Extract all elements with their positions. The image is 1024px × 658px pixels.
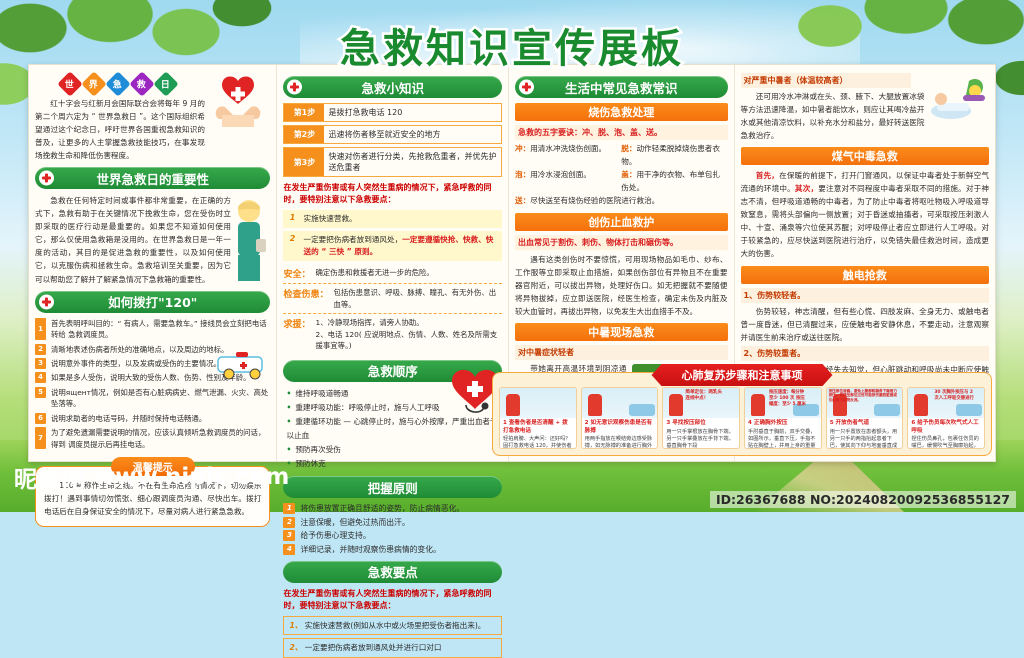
point-main: 实施快速营救。 <box>303 214 356 223</box>
list-item: 预防再次受伤 <box>286 443 502 457</box>
cpr-card-desc: 用一只手置放在患者额头，用另一只手的两指抬起患者下巴，使其向下仰与地面垂直成直角… <box>830 429 900 449</box>
watermark: 昵图网 www.nipic.com <box>14 460 289 494</box>
section-key-label: 急救要点 <box>368 562 418 581</box>
section-principle-label: 把握原则 <box>368 478 418 497</box>
shock-text-1: 伤势较轻，神志清醒，但有些心慌、四肢发麻、全身无力、或触电者曾一度昏迷，但已清醒… <box>741 305 989 344</box>
cpr-card-title: 3 寻找按压部位 <box>666 420 736 428</box>
row-value: 包括伤患意识、呼吸、脉搏、瞳孔、有无外伤、出血等。 <box>334 287 503 310</box>
gas-text-first: 首先， <box>756 171 779 180</box>
red-cross-icon <box>287 80 302 95</box>
section-common-header: 生活中常见急救常识 <box>515 76 728 98</box>
section-basics-header: 急救小知识 <box>283 76 502 98</box>
item-text: 一定要把伤病者放到通风处并进行口对口 <box>305 643 442 652</box>
list-item: 重建循环功能 — 心跳停止时，施与心外按摩，严重出血者予以止血 <box>286 415 502 443</box>
section-common-label: 生活中常见急救常识 <box>565 78 678 97</box>
item-text: 注意保暖，但避免过热而出汗。 <box>300 517 502 529</box>
item-number: 3 <box>283 530 295 541</box>
cpr-card-body: 1 查看伤者是否清醒 + 拨打急救电话 轻拍肩膀、大声问：还好吗？ 固打急救电话… <box>500 418 576 449</box>
poster-title-wrap: 急救知识宣传展板 <box>0 16 1024 74</box>
list-item: 预防休克 <box>286 457 502 471</box>
cpr-card-desc: 手肘垂直于胸前，双手交叠，如图所示，垂直下压，手指不贴在胸壁上，并用上身的重量进… <box>748 429 818 449</box>
item-text: 实施快速营救(例如从水中或火场里把受伤者拖出来)。 <box>305 621 486 630</box>
heart-in-hands-icon <box>206 71 270 135</box>
watermark-url: www.nipic.com <box>94 464 289 490</box>
item-key: 盖： <box>621 170 636 179</box>
cpr-callout: 简单定位：两乳头连线中点！ <box>685 390 723 402</box>
cpr-card-title: 1 查看伤者是否清醒 + 拨打急救电话 <box>503 420 573 435</box>
col1-importance-text: 急救在任何特定时间或事件都非常重要，在正确的方式下，急救有助于在关键情况下挽救生… <box>35 194 231 285</box>
cpr-card-title: 5 开放伤者气道 <box>830 420 900 428</box>
list-item: 5说明ящент情况，例如是否有心脏病病史、燃气泄漏、火灾、高处坠落等。 <box>35 387 270 410</box>
step-text: 说明ящент情况，例如是否有心脏病病史、燃气泄漏、火灾、高处坠落等。 <box>51 387 270 410</box>
gas-text: 首先，在保暖的前提下，打开门窗通风，以保证中毒者处于新鲜空气流通的环境中。其次，… <box>741 169 989 260</box>
list-item: 3给予伤患心理支持。 <box>283 530 502 542</box>
section-basics-label: 急救小知识 <box>361 78 424 97</box>
col2-key-alert: 在发生严重伤害或有人突然生重病的情况下，紧急呼救的同时，要特别注意以下急救要点： <box>283 588 502 612</box>
cpr-illustration: 简单定位：两乳头连线中点！ <box>663 388 739 418</box>
heat-subhead: 对中暑症状轻者 <box>515 345 728 360</box>
step-badge: 第3步 <box>284 148 324 176</box>
cpr-card: 30 次胸外按压与 2 次人工呼吸交替进行 6 给予伤员每次吹气式人工呼吸 捏住… <box>907 387 985 449</box>
item-key: 脱： <box>621 144 636 153</box>
diamond-3: 急 <box>105 71 130 96</box>
column-one: 世 界 急 救 日 红十字会与红新月会国际联合会将每年 9 月的第二个周六定为 … <box>29 65 276 461</box>
first-aid-scene-icon <box>929 73 991 125</box>
burn-header: 烧伤急救处理 <box>515 103 728 121</box>
item-key: 冲： <box>515 144 530 153</box>
item-value: 用冷水浸泡创面。 <box>530 170 591 179</box>
section-principle-header: 把握原则 <box>283 476 502 498</box>
column-two: 急救小知识 第1步是拨打急救电话 120 第2步迅速将伤者移至就近安全的地方 第… <box>276 65 508 461</box>
item-text: 将伤患放置正确且舒适的姿势，防止病情恶化。 <box>300 503 502 515</box>
cpr-card-body: 2 如无意识观察伤患是否有脉搏 用两手指放在喉结旁边感受脉搏，如无脉搏的准备进行… <box>582 418 658 449</box>
diamond-5: 日 <box>153 71 178 96</box>
step-number: 6 <box>35 413 46 424</box>
point-number: 1 <box>287 213 297 222</box>
diamond-4-label: 救 <box>137 77 146 90</box>
row-value: 1、冷静现场指挥，请旁人协助。 2、电话 120( 应说明地点、伤情、人数、姓名… <box>316 317 503 351</box>
cpr-card: 简单定位：两乳头连线中点！ 3 寻找按压部位 用一只手掌根放在胸骨下端，另一只手… <box>662 387 740 449</box>
cpr-card-desc: 用一只手掌根放在胸骨下端，另一只手掌叠放在手背下端，垂直胸骨下段 <box>666 429 736 449</box>
cpr-card-title: 2 如无意识观察伤患是否有脉搏 <box>585 420 655 435</box>
cpr-illustration: 按压速度：每分钟至少 100 次 按压幅度：至少 5 厘米 <box>745 388 821 418</box>
row-label: 求援： <box>283 317 310 351</box>
ambulance-icon <box>212 347 274 381</box>
gas-header: 煤气中毒急救 <box>741 147 989 165</box>
cpr-card: 1 查看伤者是否清醒 + 拨打急救电话 轻拍肩膀、大声问：还好吗？ 固打急救电话… <box>499 387 577 449</box>
table-row: 第2步迅速将伤者移至就近安全的地方 <box>283 125 502 144</box>
step-number: 7 <box>35 427 46 449</box>
diamond-5-label: 日 <box>161 77 170 90</box>
red-cross-icon <box>39 294 54 309</box>
cpr-panel: 心肺复苏步骤和注意事项 1 查看伤者是否清醒 + 拨打急救电话 轻拍肩膀、大声问… <box>492 372 992 456</box>
section-key-header: 急救要点 <box>283 561 502 583</box>
shock-sub-2: 2、伤势较重者。 <box>741 346 989 361</box>
burn-key-text: 急救的五字要诀：冲、脱、泡、盖、送。 <box>515 125 728 140</box>
point-text: 一定要把伤病者放到通风处，一定要遵循快抢、快救、快送的 “ 三快 ” 原则。 <box>303 234 498 258</box>
step-text: 快速对伤者进行分类，先抢救危重者，并优先护送危重者 <box>324 148 501 176</box>
step-text: 说明求助者的电话号码，并随时保持电话畅通。 <box>51 413 270 424</box>
list-item: 2 一定要把伤病者放到通风处，一定要遵循快抢、快救、快送的 “ 三快 ” 原则。 <box>283 231 502 261</box>
cpr-callout: 30 次胸外按压与 2 次人工呼吸交替进行 <box>934 390 974 402</box>
cpr-card-body: 4 正确胸外按压 手肘垂直于胸前，双手交叠，如图所示，垂直下压，手指不贴在胸壁上… <box>745 418 821 449</box>
list-item: 1、 实施快速营救(例如从水中或火场里把受伤者拖出来)。 <box>283 616 502 635</box>
list-item: 6说明求助者的电话号码，并随时保持电话畅通。 <box>35 413 270 424</box>
list-item: 脱：动作轻柔脱掉烧伤患者衣物。 <box>621 143 727 169</box>
cpr-card: 按压部位准确，避免上腹部和胸骨下端用力按压。若按压部位过低可能损伤腹腔脏器或引起… <box>826 387 904 449</box>
diamond-2: 界 <box>81 71 106 96</box>
wound-header: 创伤止血救护 <box>515 213 728 231</box>
step-number: 4 <box>35 372 46 383</box>
item-number: 2、 <box>289 643 302 652</box>
shock-header: 触电抢救 <box>741 266 989 284</box>
wound-key-text: 出血常见于割伤、刺伤、物体打击和碾伤等。 <box>515 235 728 250</box>
item-value: 动作轻柔脱掉烧伤患者衣物。 <box>621 144 720 166</box>
step-text: 为了避免遗漏需要说明的情况，应该认真倾听急救调度员的问话，得到 调度员提示后再挂… <box>51 427 270 450</box>
list-item: 冲：用清水冲洗烧伤创面。 <box>515 143 621 169</box>
row-label: 检查伤患： <box>283 287 328 310</box>
heat-header: 中暑现场急救 <box>515 323 728 341</box>
point-text: 实施快速营救。 <box>303 213 498 225</box>
item-key: 送： <box>515 196 530 205</box>
list-item: 7为了避免遗漏需要说明的情况，应该认真倾听急救调度员的问话，得到 调度员提示后再… <box>35 427 270 450</box>
severe-heat-text: 还可用冷水冲淋或在头、颈、腋下、大腿放置冰袋等方法迅速降温，如中暑者能饮水，则应… <box>741 90 925 142</box>
red-cross-icon <box>39 171 54 186</box>
wound-text: 遇有这类创伤时不要惊慌，可用现场物品如毛巾、纱布、工作服等立即采取止血措施，如果… <box>515 253 728 318</box>
watermark-brand: 昵图网 <box>14 460 86 494</box>
section-order-label: 急救顺序 <box>368 361 418 380</box>
section-call-header: 如何拨打"120" <box>35 291 270 313</box>
step-text: 首先表明呼叫目的：“ 有病人，需要急救车。” 接线员会立刻把电话转给 急救调度员… <box>51 318 270 341</box>
nurse-illustration-icon <box>226 197 272 283</box>
item-key: 泡： <box>515 170 530 179</box>
step-badge: 第2步 <box>284 126 324 143</box>
step-text: 迅速将伤者移至就近安全的地方 <box>324 126 501 143</box>
section-importance-header: 世界急救日的重要性 <box>35 167 270 189</box>
diamond-3-label: 急 <box>113 77 122 90</box>
step-text: 是拨打急救电话 120 <box>324 104 501 121</box>
burn-items: 冲：用清水冲洗烧伤创面。 脱：动作轻柔脱掉烧伤患者衣物。 泡：用冷水浸泡创面。 … <box>515 143 728 208</box>
step-badge: 第1步 <box>284 104 324 121</box>
cpr-title: 心肺复苏步骤和注意事项 <box>652 364 833 386</box>
col1-intro-text: 红十字会与红新月会国际联合会将每年 9 月的第二个周六定为 “ 世界急救日 ”。… <box>35 97 205 162</box>
cpr-callout: 按压速度：每分钟至少 100 次 按压幅度：至少 5 厘米 <box>769 390 807 408</box>
cpr-illustration: 30 次胸外按压与 2 次人工呼吸交替进行 <box>908 388 984 418</box>
list-item: 盖：用干净的衣物、布单包扎伤处。 <box>621 169 727 195</box>
image-id-text: ID:26367688 NO:20240820092536855127 <box>710 491 1016 508</box>
cpr-illustration <box>582 388 658 418</box>
point-number: 2 <box>287 234 297 243</box>
table-row: 第3步快速对伤者进行分类，先抢救危重者，并优先护送危重者 <box>283 147 502 177</box>
cpr-illustration <box>500 388 576 418</box>
step-number: 3 <box>35 358 46 369</box>
col2-alert-text: 在发生严重伤害或有人突然生重病的情况下，紧急呼救的同时，要特别注意以下急救要点： <box>283 182 502 206</box>
list-item: 2注意保暖，但避免过热而出汗。 <box>283 517 502 529</box>
list-item: 送：尽快送至有烧伤经验的医院进行救治。 <box>515 195 728 208</box>
point-main: 一定要把伤病者放到通风处， <box>303 235 402 244</box>
cpr-callout: 按压部位准确，避免上腹部和胸骨下端用力按压。若按压部位过低可能损伤腹腔脏器或引起… <box>829 389 899 402</box>
cpr-card-desc: 捏住伤员鼻孔，包裹住伤员的嘴巴，缓慢吹气至胸廓抬起，松开鼻孔使气体排出，平均每分… <box>911 436 981 449</box>
gas-text-body2: 要注意对不同程度中毒者采取不同的措施。对于神志不清，但呼吸道通畅的中毒者，为了防… <box>741 184 989 258</box>
cpr-card-title: 4 正确胸外按压 <box>748 420 818 428</box>
diamond-1: 世 <box>57 71 82 96</box>
table-row: 安全：确定伤患和救援者无进一步的危险。 <box>283 264 502 284</box>
cpr-card-title: 6 给予伤员每次吹气式人工呼吸 <box>911 420 981 435</box>
poster-title: 急救知识宣传展板 <box>340 16 684 74</box>
cpr-cards: 1 查看伤者是否清醒 + 拨打急救电话 轻拍肩膀、大声问：还好吗？ 固打急救电话… <box>499 387 985 449</box>
row-label: 安全： <box>283 267 310 280</box>
cpr-card-body: 5 开放伤者气道 用一只手置放在患者额头，用另一只手的两指抬起患者下巴，使其向下… <box>827 418 903 449</box>
table-row: 求援：1、冷静现场指挥，请旁人协助。 2、电话 120( 应说明地点、伤情、人数… <box>283 314 502 354</box>
step-number: 1 <box>35 318 46 340</box>
section-importance-label: 世界急救日的重要性 <box>96 169 209 188</box>
list-item: 1 实施快速营救。 <box>283 210 502 228</box>
cpr-card: 按压速度：每分钟至少 100 次 按压幅度：至少 5 厘米 4 正确胸外按压 手… <box>744 387 822 449</box>
gas-text-second: 其次， <box>795 184 818 193</box>
section-call-label: 如何拨打"120" <box>108 292 197 311</box>
cpr-card-body: 3 寻找按压部位 用一只手掌根放在胸骨下端，另一只手掌叠放在手背下端，垂直胸骨下… <box>663 418 739 449</box>
item-number: 2 <box>283 517 295 528</box>
list-item: 泡：用冷水浸泡创面。 <box>515 169 621 195</box>
item-number: 4 <box>283 544 295 555</box>
item-number: 1、 <box>289 621 302 630</box>
item-value: 用清水冲洗烧伤创面。 <box>530 144 606 153</box>
item-number: 1 <box>283 503 295 514</box>
cpr-card: 2 如无意识观察伤患是否有脉搏 用两手指放在喉结旁边感受脉搏，如无脉搏的准备进行… <box>581 387 659 449</box>
shock-sub-1: 1、伤势较轻者。 <box>741 288 989 303</box>
list-item: 1首先表明呼叫目的：“ 有病人，需要急救车。” 接线员会立刻把电话转给 急救调度… <box>35 318 270 341</box>
item-value: 用干净的衣物、布单包扎伤处。 <box>621 170 720 192</box>
step-number: 5 <box>35 387 46 398</box>
diamond-4: 救 <box>129 71 154 96</box>
item-text: 给予伤患心理支持。 <box>300 530 502 542</box>
diamond-2-label: 界 <box>89 77 98 90</box>
call-steps-list: 1首先表明呼叫目的：“ 有病人，需要急救车。” 接线员会立刻把电话转给 急救调度… <box>35 318 270 451</box>
row-value: 确定伤患和救援者无进一步的危险。 <box>316 267 503 280</box>
cpr-card-body: 6 给予伤员每次吹气式人工呼吸 捏住伤员鼻孔，包裹住伤员的嘴巴，缓慢吹气至胸廓抬… <box>908 418 984 449</box>
cpr-card-desc: 用两手指放在喉结旁边感受脉搏，如无脉搏的准备进行胸外按压 <box>585 436 655 449</box>
poster-stage: 急救知识宣传展板 世 界 急 救 日 红十字会与红新月会国际联合会将每年 9 月… <box>0 0 1024 512</box>
item-value: 尽快送至有烧伤经验的医院进行救治。 <box>530 196 659 205</box>
table-row: 第1步是拨打急救电话 120 <box>283 103 502 122</box>
step-number: 2 <box>35 344 46 355</box>
item-text: 详细记录，并随时观察伤患病情的变化。 <box>300 544 502 556</box>
list-item: 1将伤患放置正确且舒适的姿势，防止病情恶化。 <box>283 503 502 515</box>
cpr-card-desc: 轻拍肩膀、大声问：还好吗？ 固打急救电话 120，并使伤者平躺。 <box>503 436 573 449</box>
table-row: 检查伤患：包括伤患意识、呼吸、脉搏、瞳孔、有无外伤、出血等。 <box>283 284 502 314</box>
list-item: 4详细记录，并随时观察伤患病情的变化。 <box>283 544 502 556</box>
list-item: 2、 一定要把伤病者放到通风处并进行口对口 <box>283 638 502 657</box>
red-cross-icon <box>519 80 534 95</box>
cpr-illustration: 按压部位准确，避免上腹部和胸骨下端用力按压。若按压部位过低可能损伤腹腔脏器或引起… <box>827 388 903 418</box>
severe-heat-title: 对严重中暑者（体温较高者） <box>741 73 911 88</box>
diamond-1-label: 世 <box>65 77 74 90</box>
